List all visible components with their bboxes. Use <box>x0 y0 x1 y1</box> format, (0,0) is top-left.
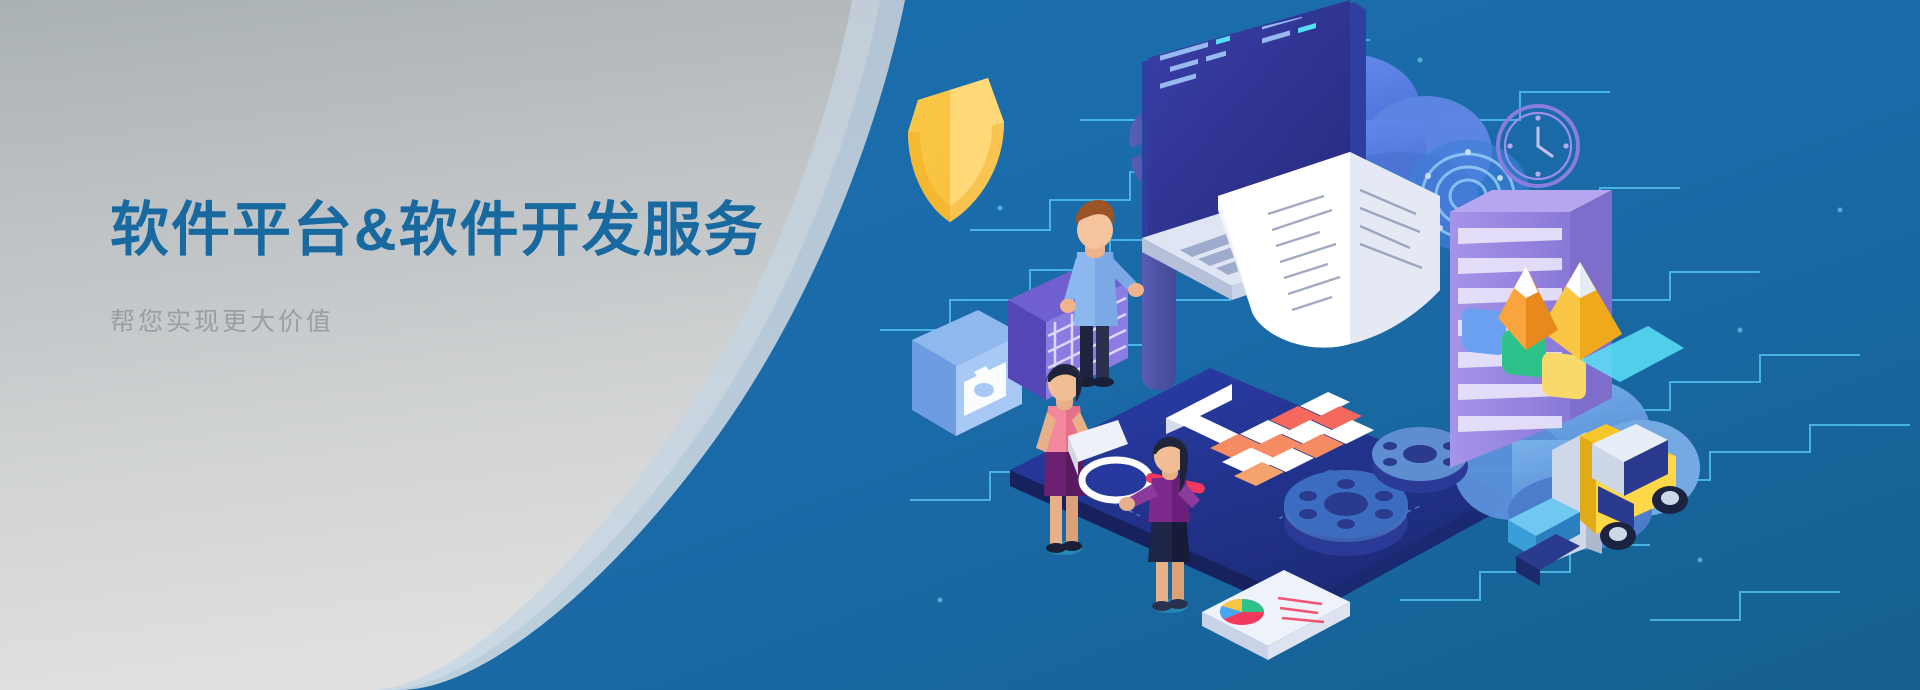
shield-icon <box>908 78 1004 222</box>
clock-icon <box>1498 106 1578 186</box>
pie-slices <box>1220 599 1264 625</box>
hero-banner: 软件平台&软件开发服务 帮您实现更大价值 <box>0 0 1920 690</box>
banner-copy: 软件平台&软件开发服务 帮您实现更大价值 <box>110 196 830 338</box>
page-subtitle: 帮您实现更大价值 <box>110 302 830 338</box>
page-title: 软件平台&软件开发服务 <box>110 196 830 266</box>
hero-illustration <box>880 0 1920 690</box>
camera-tile-icon <box>912 310 1022 436</box>
